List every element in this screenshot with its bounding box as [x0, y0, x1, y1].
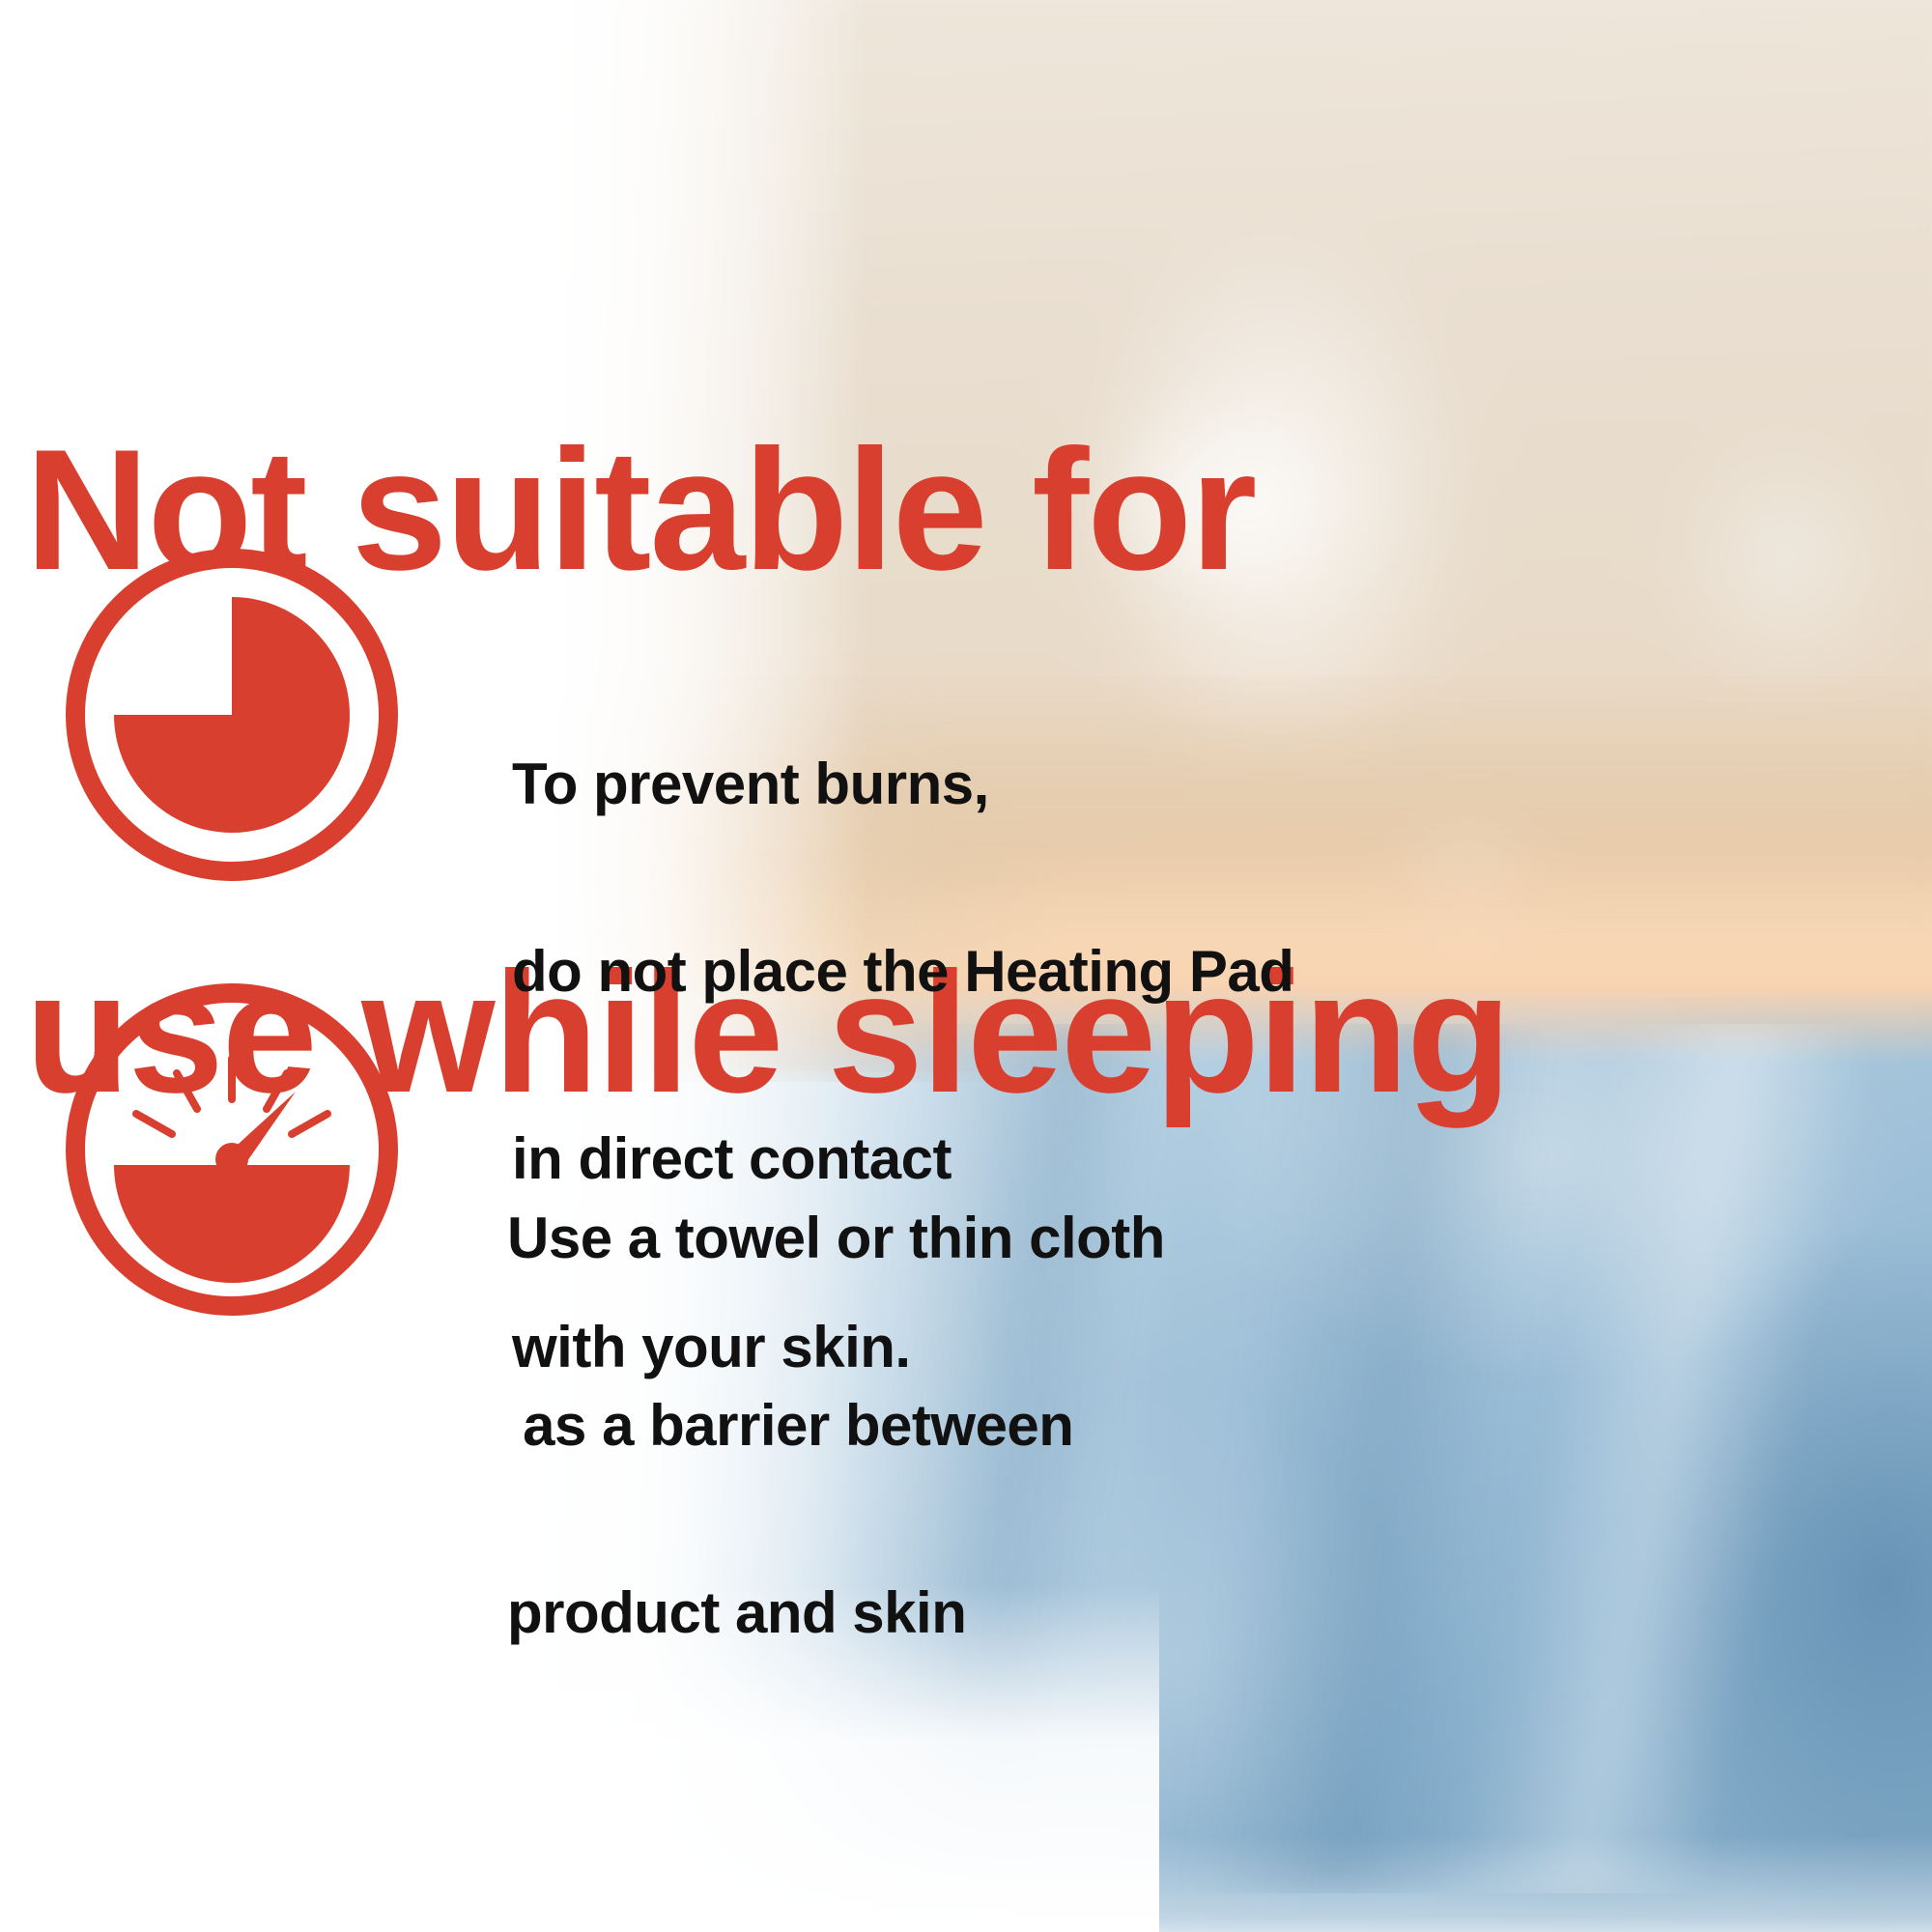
warning-1-line-1: To prevent burns,	[512, 753, 1293, 816]
gauge-needle-hub	[215, 1143, 248, 1176]
gauge-tick-marks	[136, 1059, 327, 1134]
warning-2-line-3: product and skin	[507, 1582, 1165, 1645]
pie-timer-icon-graphic	[58, 541, 406, 889]
gauge-temperature-icon-graphic	[58, 976, 406, 1323]
warning-2-line-2: as a barrier between	[507, 1395, 1165, 1458]
pie-timer-wedge	[114, 597, 350, 833]
warning-2-line-1: Use a towel or thin cloth	[507, 1207, 1165, 1270]
warning-row-2: Use a towel or thin cloth as a barrier b…	[0, 976, 1165, 1771]
gauge-fill-lower-half	[114, 1165, 350, 1283]
warning-text-2: Use a towel or thin cloth as a barrier b…	[507, 1082, 1165, 1771]
warning-infographic: Not suitable for use while sleeping To p…	[0, 0, 1932, 1932]
gauge-temperature-icon	[58, 976, 406, 1323]
pie-timer-icon	[58, 541, 406, 889]
